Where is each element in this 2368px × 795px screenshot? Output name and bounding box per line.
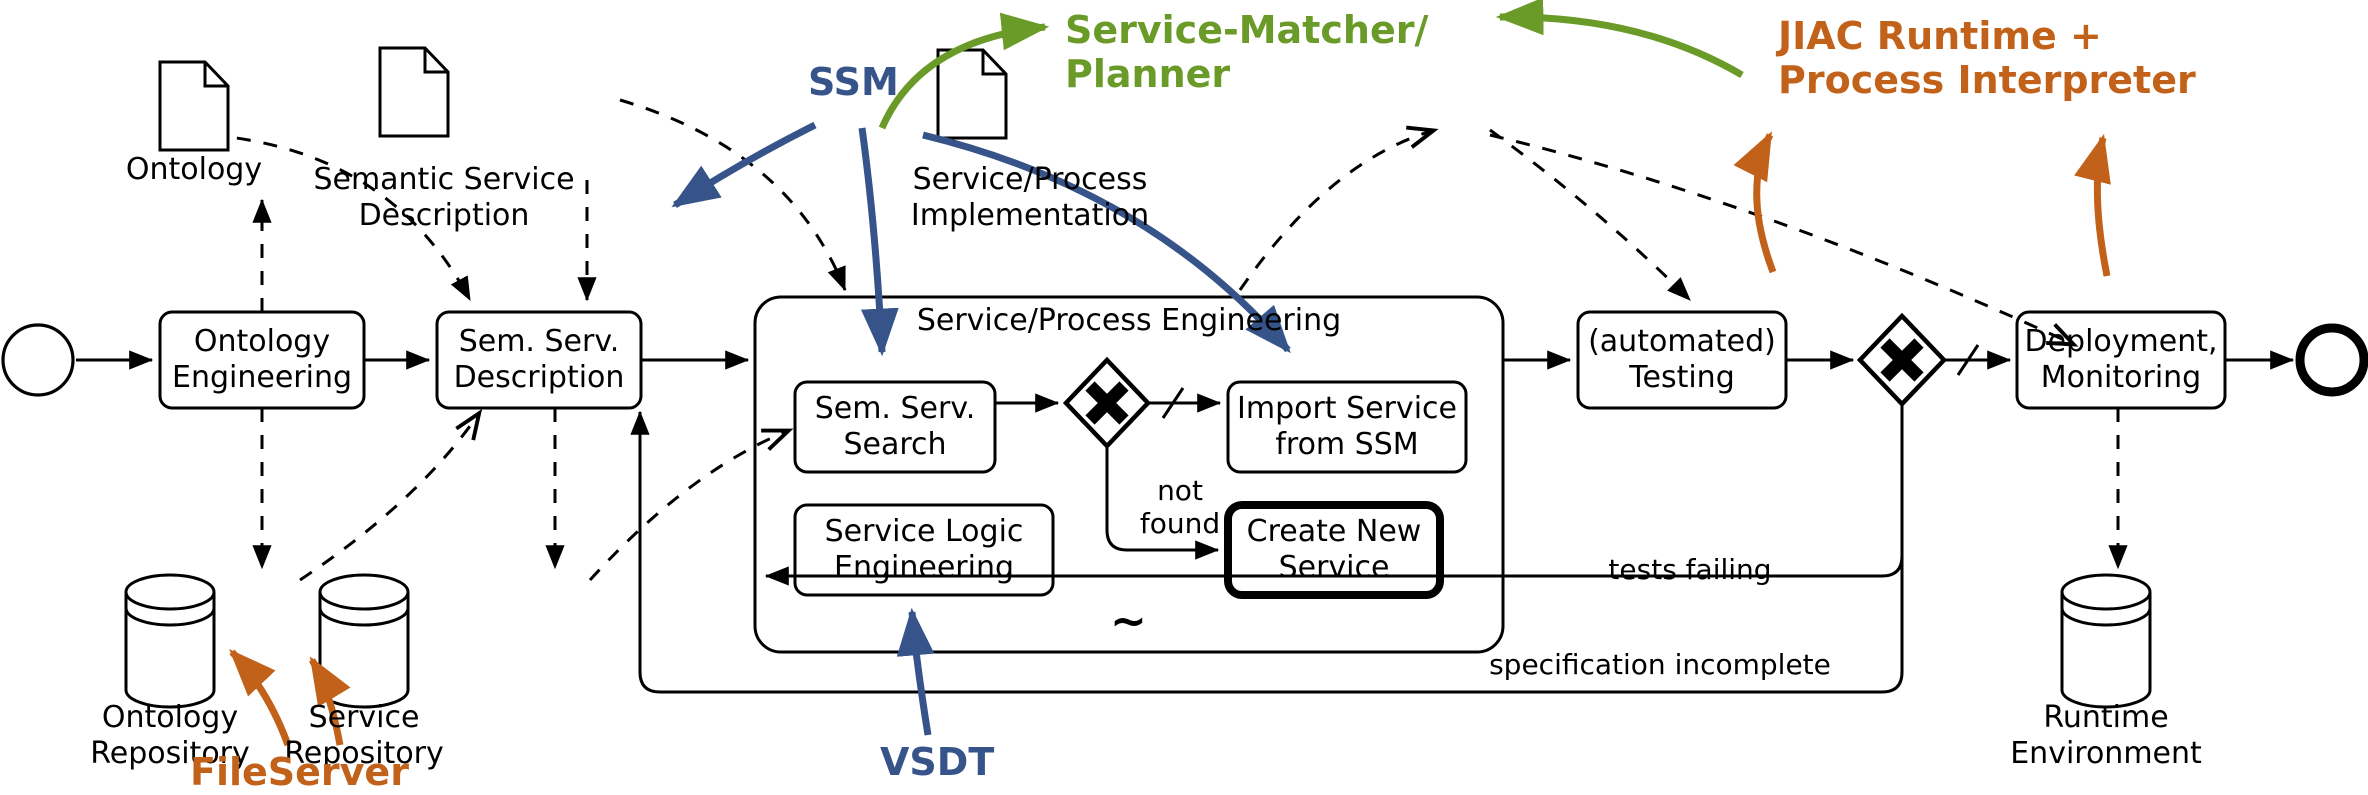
flow-label-specification-incomplete: specification incomplete	[1450, 648, 1870, 681]
blue-arrow-ssm-to-description	[675, 125, 815, 205]
subprocess-title: Service/Process Engineering	[889, 303, 1369, 338]
annotation-arrow-layer	[0, 0, 2368, 795]
annotation-vsdt: VSDT	[880, 740, 1060, 784]
annotation-service-matcher-planner: Service-Matcher/ Planner	[1065, 8, 1495, 96]
blue-arrow-ssm-to-search	[862, 128, 882, 352]
green-arrow-from-right	[1500, 17, 1742, 75]
flow-label-not-found: not found	[1120, 474, 1240, 540]
blue-arrow-vsdt-to-service-logic	[912, 612, 928, 735]
annotation-fileserver: FileServer	[190, 750, 450, 794]
artifact-label-semantic-service-description: Semantic Service Description	[304, 162, 584, 234]
diagram-canvas: Ontology Semantic Service Description Se…	[0, 0, 2368, 795]
artifact-label-ontology: Ontology	[104, 152, 284, 188]
orange-arrow-jiac-to-deployment	[2097, 138, 2107, 276]
loop-marker: ~	[1110, 600, 1147, 644]
annotation-jiac-runtime: JIAC Runtime + Process Interpreter	[1778, 14, 2278, 102]
artifact-label-service-process-implementation: Service/Process Implementation	[890, 162, 1170, 234]
flow-label-tests-failing: tests failing	[1580, 553, 1800, 586]
datastore-label-runtime-environment: Runtime Environment	[2000, 700, 2212, 772]
annotation-ssm: SSM	[808, 60, 968, 104]
orange-arrow-jiac-to-testing	[1757, 135, 1773, 272]
